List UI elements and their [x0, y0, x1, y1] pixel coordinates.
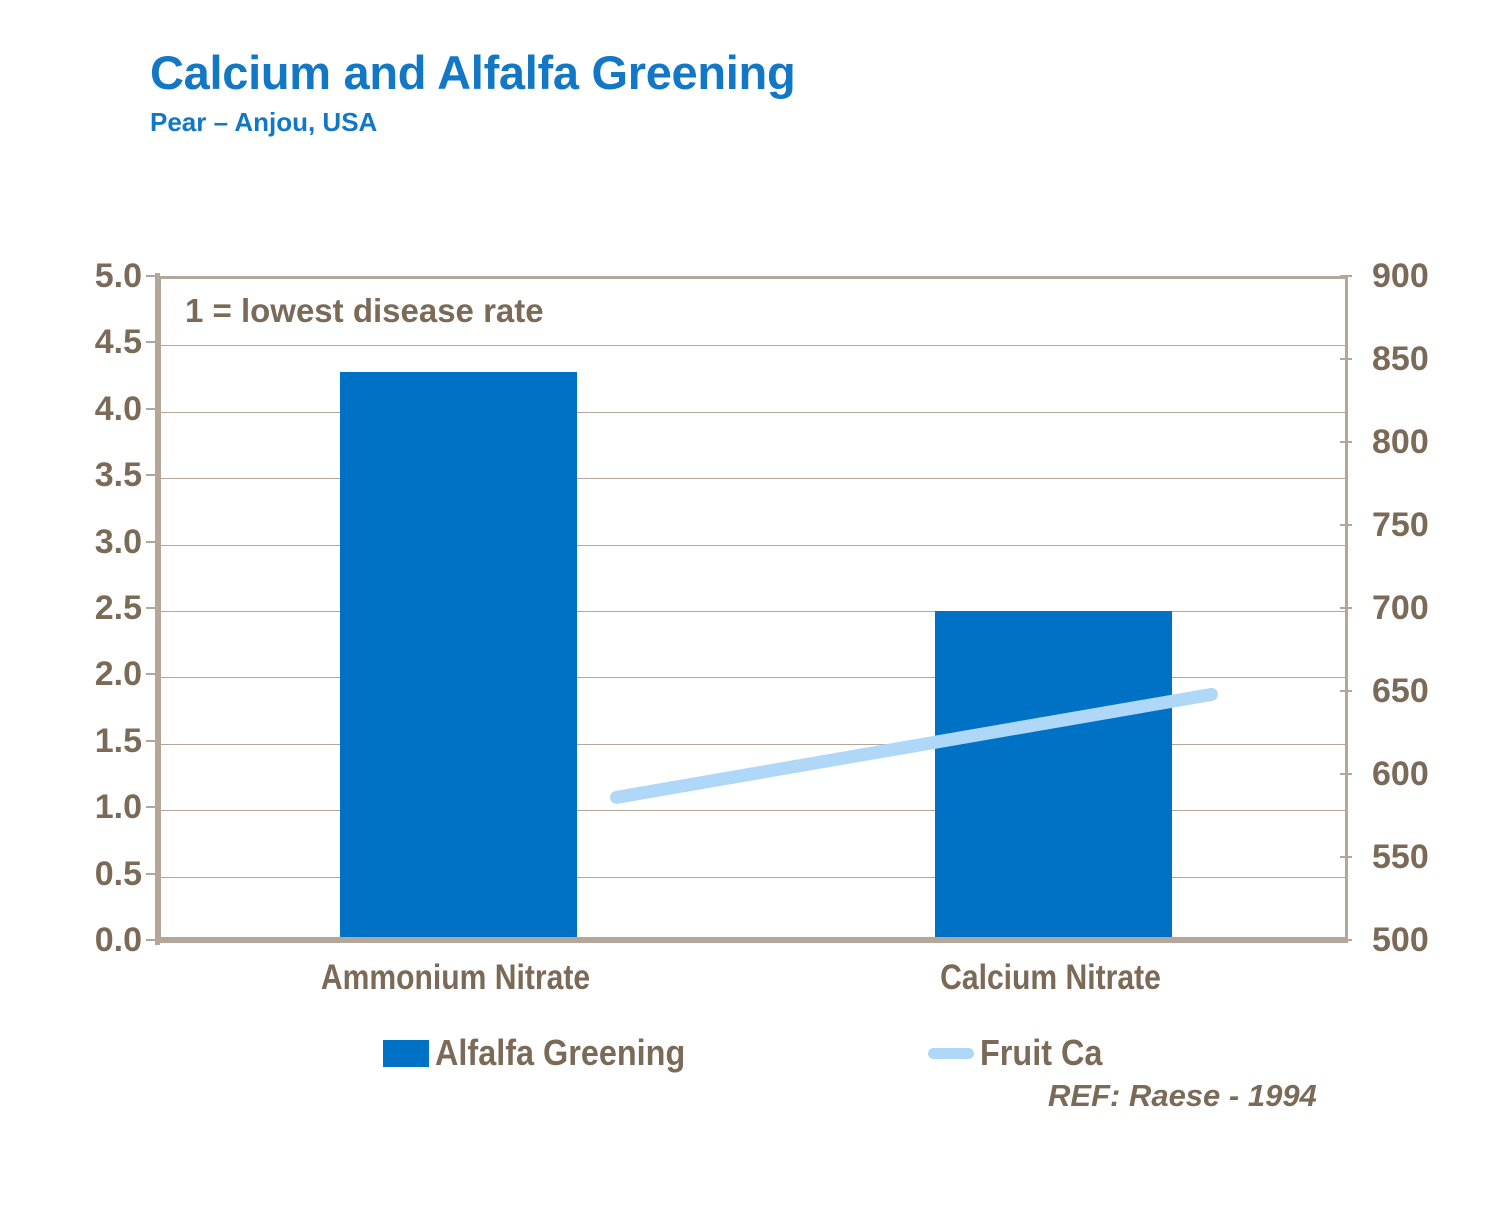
legend-swatch-line-icon: [928, 1048, 974, 1059]
y-axis-label-right: 650: [1372, 674, 1429, 708]
gridline: [161, 478, 1345, 479]
title-block: Calcium and Alfalfa Greening Pear – Anjo…: [150, 48, 795, 138]
page-subtitle: Pear – Anjou, USA: [150, 107, 795, 138]
x-axis-label-calcium-nitrate: Calcium Nitrate: [795, 958, 1307, 998]
legend-label-fruit-ca: Fruit Ca: [980, 1032, 1102, 1074]
x-axis-label-ammonium-nitrate: Ammonium Nitrate: [200, 958, 712, 998]
y-axis-tick-left: [146, 541, 158, 543]
gridline: [161, 545, 1345, 546]
y-axis-label-right: 700: [1372, 591, 1429, 625]
y-axis-tick-right: [1340, 939, 1352, 941]
chart-legend: Alfalfa Greening Fruit Ca: [158, 1030, 1348, 1076]
plot-annotation: 1 = lowest disease rate: [185, 292, 544, 330]
y-axis-label-left: 4.5: [95, 325, 142, 359]
y-axis-tick-right: [1340, 690, 1352, 692]
reference-note: REF: Raese - 1994: [1048, 1078, 1317, 1114]
y-axis-label-right: 750: [1372, 508, 1429, 542]
y-axis-tick-right: [1340, 275, 1352, 277]
page-title: Calcium and Alfalfa Greening: [150, 48, 795, 97]
y-axis-label-left: 5.0: [95, 259, 142, 293]
y-axis-label-right: 500: [1372, 923, 1429, 957]
y-axis-label-left: 0.5: [95, 857, 142, 891]
y-axis-tick-left: [146, 408, 158, 410]
legend-label-alfalfa-greening: Alfalfa Greening: [435, 1032, 685, 1074]
legend-item-alfalfa-greening[interactable]: Alfalfa Greening: [383, 1030, 713, 1076]
y-axis-tick-right: [1340, 856, 1352, 858]
y-axis-tick-left: [146, 607, 158, 609]
y-axis-tick-right: [1340, 441, 1352, 443]
y-axis-tick-left: [146, 673, 158, 675]
y-axis-tick-left: [146, 740, 158, 742]
y-axis-label-right: 800: [1372, 425, 1429, 459]
y-axis-label-left: 0.0: [95, 923, 142, 957]
y-axis-label-left: 1.5: [95, 724, 142, 758]
y-axis-tick-right: [1340, 773, 1352, 775]
y-axis-label-left: 3.0: [95, 525, 142, 559]
y-axis-tick-left: [146, 939, 158, 941]
y-axis-label-right: 850: [1372, 342, 1429, 376]
y-axis-tick-right: [1340, 358, 1352, 360]
y-axis-tick-left: [146, 806, 158, 808]
chart-plot-area: [158, 276, 1348, 940]
fruit-ca-line-path: [617, 694, 1212, 797]
x-axis-baseline: [158, 937, 1348, 943]
y-axis-label-left: 2.5: [95, 591, 142, 625]
y-axis-label-left: 1.0: [95, 790, 142, 824]
legend-swatch-bar-icon: [383, 1040, 429, 1067]
y-axis-line: [155, 273, 160, 945]
legend-item-fruit-ca[interactable]: Fruit Ca: [928, 1030, 1116, 1076]
y-axis-label-left: 3.5: [95, 458, 142, 492]
y-axis-label-right: 600: [1372, 757, 1429, 791]
y-axis-label-right: 550: [1372, 840, 1429, 874]
y-axis-label-left: 2.0: [95, 657, 142, 691]
y-axis-tick-left: [146, 341, 158, 343]
gridline: [161, 412, 1345, 413]
gridline: [161, 345, 1345, 346]
y-axis-label-left: 4.0: [95, 392, 142, 426]
y-axis-tick-right: [1340, 524, 1352, 526]
y-axis-tick-left: [146, 275, 158, 277]
y-axis-tick-left: [146, 873, 158, 875]
y-axis-tick-right: [1340, 607, 1352, 609]
y-axis-label-right: 900: [1372, 259, 1429, 293]
y-axis-tick-left: [146, 474, 158, 476]
line-series-fruit-ca: [319, 555, 1500, 1219]
